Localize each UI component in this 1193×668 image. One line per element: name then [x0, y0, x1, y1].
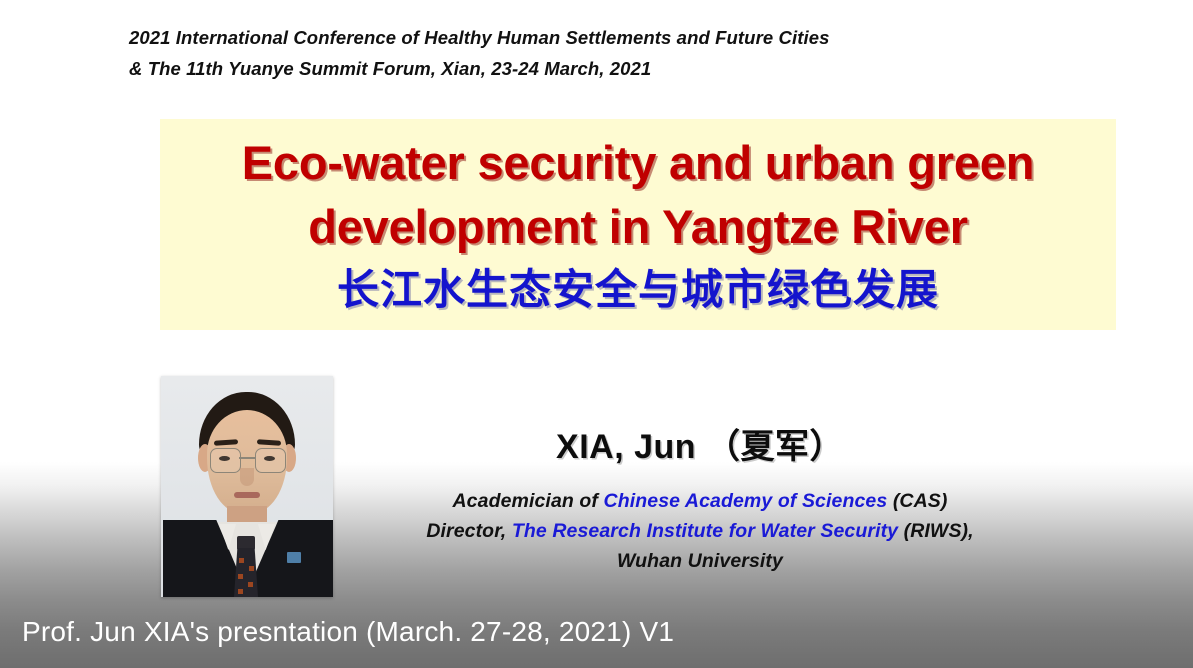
conference-header: 2021 International Conference of Healthy… — [129, 22, 1009, 84]
affiliation-line-3: Wuhan University — [380, 546, 1020, 576]
speaker-info-block: XIA, Jun （夏军） Academician of Chinese Aca… — [380, 424, 1020, 576]
speaker-portrait-photo — [161, 376, 333, 597]
caption-bar: Prof. Jun XIA's presntation (March. 27-2… — [0, 604, 1193, 668]
portrait-eyeglass-lens-right — [255, 448, 286, 473]
title-chinese-line: 长江水生态安全与城市绿色发展 — [337, 261, 939, 319]
affiliation-2-suffix: (RIWS), — [898, 520, 974, 542]
affiliation-1-highlight: Chinese Academy of Sciences — [604, 490, 888, 512]
conference-header-line-1: 2021 International Conference of Healthy… — [129, 22, 1009, 53]
title-english-line-2: development in Yangtze River — [308, 195, 968, 259]
portrait-tie-knot — [237, 536, 255, 550]
portrait-eyeglass-lens-left — [210, 448, 241, 473]
portrait-tie-pattern-dot — [239, 558, 244, 563]
portrait-tie-pattern-dot — [238, 574, 243, 579]
speaker-affiliations: Academician of Chinese Academy of Scienc… — [380, 486, 1020, 576]
portrait-eyeglass-bridge — [239, 457, 255, 459]
affiliation-1-prefix: Academician of — [453, 490, 604, 512]
affiliation-line-1: Academician of Chinese Academy of Scienc… — [380, 486, 1020, 516]
affiliation-line-2: Director, The Research Institute for Wat… — [380, 516, 1020, 546]
caption-text: Prof. Jun XIA's presntation (March. 27-2… — [22, 616, 674, 648]
portrait-tie-pattern-dot — [248, 582, 253, 587]
affiliation-1-suffix: (CAS) — [887, 490, 947, 512]
presentation-slide: 2021 International Conference of Healthy… — [0, 0, 1193, 668]
affiliation-2-prefix: Director, — [426, 520, 512, 542]
title-block: Eco-water security and urban green devel… — [160, 119, 1116, 330]
portrait-tie-pattern-dot — [238, 589, 243, 594]
portrait-lapel-badge — [287, 552, 301, 563]
portrait-mouth — [234, 492, 260, 498]
affiliation-2-highlight: The Research Institute for Water Securit… — [512, 520, 898, 542]
title-english-line-1: Eco-water security and urban green — [242, 131, 1034, 195]
portrait-nose — [240, 468, 254, 486]
speaker-name: XIA, Jun （夏军） — [380, 424, 1020, 470]
portrait-tie-pattern-dot — [249, 566, 254, 571]
conference-header-line-2: & The 11th Yuanye Summit Forum, Xian, 23… — [129, 53, 1009, 84]
